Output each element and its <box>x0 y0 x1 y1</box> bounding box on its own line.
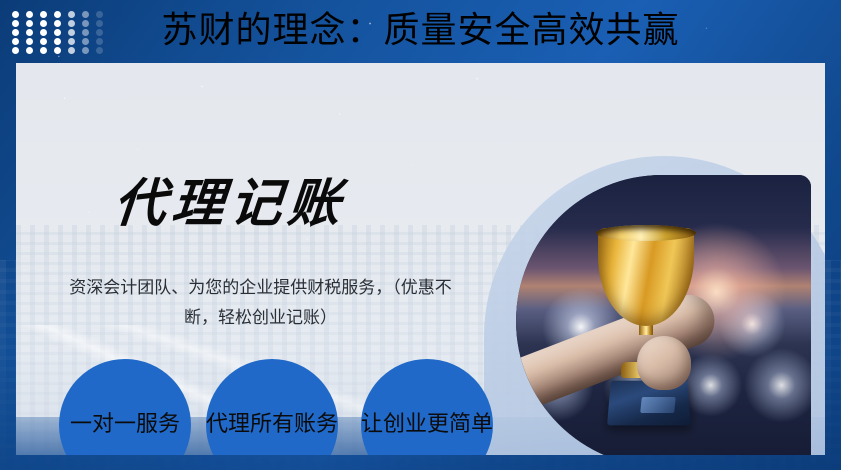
feature-circle-1[interactable] <box>59 359 191 455</box>
content-panel: 代理记账 资深会计团队、为您的企业提供财税服务，（优惠不断，轻松创业记账） 一对… <box>16 63 825 455</box>
feature-circle-3[interactable] <box>361 359 493 455</box>
feature-circle-label-2: 代理所有账务 <box>200 410 344 440</box>
hand-shape <box>637 336 691 390</box>
right-edge-strip <box>825 0 841 470</box>
slide-canvas: 苏财的理念：质量安全高效共赢 代理记账 资深会计团队、为您的企业提供财税服务，（ <box>0 0 841 470</box>
feature-circle-2[interactable] <box>206 359 338 455</box>
main-heading: 代理记账 <box>111 173 348 235</box>
feature-circle-label-1: 一对一服务 <box>59 410 191 440</box>
page-title: 苏财的理念：质量安全高效共赢 <box>0 8 841 54</box>
subtitle-text: 资深会计团队、为您的企业提供财税服务，（优惠不断，轻松创业记账） <box>68 273 453 333</box>
trophy-photo <box>516 175 811 455</box>
trophy-plate-icon <box>640 397 676 413</box>
stadium-lights-background <box>516 175 811 455</box>
feature-circle-label-3: 让创业更简单 <box>352 410 502 440</box>
slide-header: 苏财的理念：质量安全高效共赢 <box>0 0 841 63</box>
trophy-rim-icon <box>596 225 696 241</box>
